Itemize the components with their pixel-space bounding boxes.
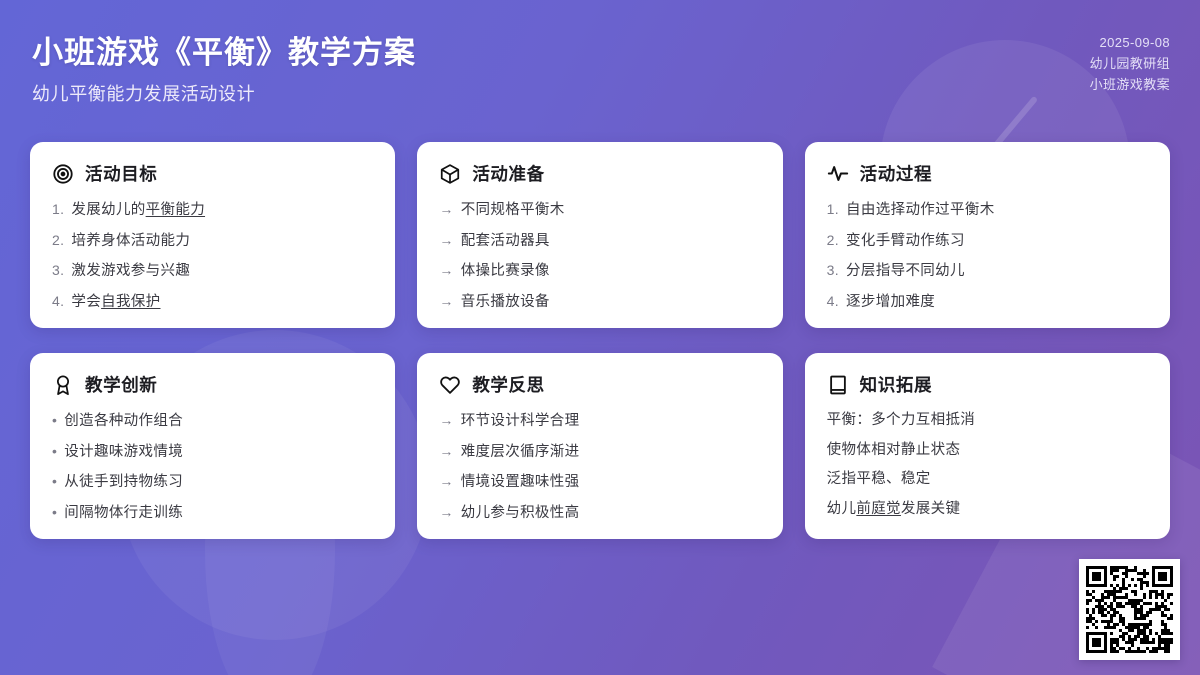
card-list: 1.自由选择动作过平衡木2.变化手臂动作练习3.分层指导不同幼儿4.逐步增加难度 bbox=[827, 199, 1148, 312]
list-item: •设计趣味游戏情境 bbox=[52, 441, 373, 462]
list-marker: 3. bbox=[52, 260, 64, 280]
list-item-text: 培养身体活动能力 bbox=[71, 231, 190, 251]
card-4: 教学创新•创造各种动作组合•设计趣味游戏情境•从徒手到持物练习•间隔物体行走训练 bbox=[30, 353, 395, 539]
card-3: 活动过程1.自由选择动作过平衡木2.变化手臂动作练习3.分层指导不同幼儿4.逐步… bbox=[805, 142, 1170, 328]
list-item: 幼儿前庭觉发展关键 bbox=[827, 499, 1148, 519]
book-icon bbox=[827, 374, 849, 396]
list-item: →环节设计科学合理 bbox=[439, 410, 760, 431]
list-item: •创造各种动作组合 bbox=[52, 410, 373, 431]
list-item-text-pre: 培养身体活动能力 bbox=[71, 233, 190, 249]
list-marker: 4. bbox=[827, 291, 839, 311]
list-marker: → bbox=[439, 291, 453, 311]
card-list: •创造各种动作组合•设计趣味游戏情境•从徒手到持物练习•间隔物体行走训练 bbox=[52, 410, 373, 523]
list-item: •间隔物体行走训练 bbox=[52, 502, 373, 523]
list-item-text-pre: 变化手臂动作练习 bbox=[846, 233, 965, 249]
card-title: 知识拓展 bbox=[860, 372, 932, 397]
list-item-text-pre: 自由选择动作过平衡木 bbox=[846, 202, 995, 218]
package-icon bbox=[439, 163, 461, 185]
list-marker: → bbox=[439, 471, 453, 491]
list-item: 泛指平稳、稳定 bbox=[827, 469, 1148, 489]
list-item-text-pre: 体操比赛录像 bbox=[461, 263, 550, 279]
list-item-text-pre: 逐步增加难度 bbox=[846, 294, 935, 310]
card-header: 知识拓展 bbox=[827, 372, 1148, 397]
list-marker: → bbox=[439, 260, 453, 280]
list-item-text: 环节设计科学合理 bbox=[461, 411, 580, 431]
list-item-text: 自由选择动作过平衡木 bbox=[846, 200, 995, 220]
list-item: 4.学会自我保护 bbox=[52, 291, 373, 312]
list-item-text: 激发游戏参与兴趣 bbox=[71, 261, 190, 281]
list-item-text-pre: 幼儿 bbox=[827, 501, 857, 517]
list-item-text: 音乐播放设备 bbox=[461, 292, 550, 312]
list-item-text-pre: 间隔物体行走训练 bbox=[64, 505, 183, 521]
list-item-text-pre: 发展幼儿的 bbox=[71, 202, 145, 218]
list-item-text-pre: 分层指导不同幼儿 bbox=[846, 263, 965, 279]
card-header: 教学创新 bbox=[52, 372, 373, 397]
card-title: 活动准备 bbox=[472, 161, 544, 186]
list-item-text: 平衡：多个力互相抵消 bbox=[827, 410, 976, 430]
list-item: 1.自由选择动作过平衡木 bbox=[827, 199, 1148, 220]
list-item-text-pre: 不同规格平衡木 bbox=[461, 202, 565, 218]
list-item-text-post: 发展关键 bbox=[901, 501, 960, 517]
list-item-text-pre: 创造各种动作组合 bbox=[64, 413, 183, 429]
list-item: →情境设置趣味性强 bbox=[439, 471, 760, 492]
card-list: →不同规格平衡木→配套活动器具→体操比赛录像→音乐播放设备 bbox=[439, 199, 760, 312]
list-item-text-emphasis: 平衡能力 bbox=[146, 202, 205, 218]
heart-icon bbox=[439, 374, 461, 396]
list-item: →难度层次循序渐进 bbox=[439, 441, 760, 462]
list-item: 2.变化手臂动作练习 bbox=[827, 230, 1148, 251]
list-item-text: 体操比赛录像 bbox=[461, 261, 550, 281]
list-item-text-emphasis: 前庭觉 bbox=[856, 501, 901, 517]
header-meta: 2025-09-08 幼儿园教研组 小班游戏教案 bbox=[1090, 32, 1170, 95]
award-icon bbox=[52, 374, 74, 396]
list-item-text: 间隔物体行走训练 bbox=[64, 503, 183, 523]
list-item: 平衡：多个力互相抵消 bbox=[827, 410, 1148, 430]
card-title: 教学反思 bbox=[472, 372, 544, 397]
list-marker: → bbox=[439, 230, 453, 250]
list-item-text-pre: 激发游戏参与兴趣 bbox=[71, 263, 190, 279]
list-item: 3.激发游戏参与兴趣 bbox=[52, 260, 373, 281]
card-list: →环节设计科学合理→难度层次循序渐进→情境设置趣味性强→幼儿参与积极性高 bbox=[439, 410, 760, 523]
list-item-text-pre: 环节设计科学合理 bbox=[461, 413, 580, 429]
card-list: 1.发展幼儿的平衡能力2.培养身体活动能力3.激发游戏参与兴趣4.学会自我保护 bbox=[52, 199, 373, 312]
list-item-text: 情境设置趣味性强 bbox=[461, 472, 580, 492]
list-item-text-pre: 音乐播放设备 bbox=[461, 294, 550, 310]
list-marker: • bbox=[52, 410, 57, 430]
list-marker: → bbox=[439, 199, 453, 219]
list-item-text: 从徒手到持物练习 bbox=[64, 472, 183, 492]
list-item-text-pre: 难度层次循序渐进 bbox=[461, 444, 580, 460]
card-header: 活动准备 bbox=[439, 161, 760, 186]
list-item-text-pre: 使物体相对静止状态 bbox=[827, 442, 961, 458]
list-item-text-pre: 情境设置趣味性强 bbox=[461, 474, 580, 490]
meta-category: 小班游戏教案 bbox=[1090, 74, 1170, 95]
list-marker: → bbox=[439, 410, 453, 430]
list-item: →配套活动器具 bbox=[439, 230, 760, 251]
card-1: 活动目标1.发展幼儿的平衡能力2.培养身体活动能力3.激发游戏参与兴趣4.学会自… bbox=[30, 142, 395, 328]
list-item-text-pre: 从徒手到持物练习 bbox=[64, 474, 183, 490]
page-header: 小班游戏《平衡》教学方案 幼儿平衡能力发展活动设计 2025-09-08 幼儿园… bbox=[0, 0, 1200, 125]
list-item-text-pre: 学会 bbox=[71, 294, 101, 310]
list-item: →音乐播放设备 bbox=[439, 291, 760, 312]
list-item-text: 学会自我保护 bbox=[71, 292, 160, 312]
list-item-text-pre: 设计趣味游戏情境 bbox=[64, 444, 183, 460]
list-item-text: 分层指导不同幼儿 bbox=[846, 261, 965, 281]
list-item: 2.培养身体活动能力 bbox=[52, 230, 373, 251]
list-item-text: 发展幼儿的平衡能力 bbox=[71, 200, 205, 220]
list-marker: → bbox=[439, 502, 453, 522]
list-item-text: 泛指平稳、稳定 bbox=[827, 469, 931, 489]
card-6: 知识拓展平衡：多个力互相抵消使物体相对静止状态泛指平稳、稳定幼儿前庭觉发展关键 bbox=[805, 353, 1170, 539]
meta-org: 幼儿园教研组 bbox=[1090, 53, 1170, 74]
card-header: 教学反思 bbox=[439, 372, 760, 397]
list-item-text: 设计趣味游戏情境 bbox=[64, 442, 183, 462]
list-item: →幼儿参与积极性高 bbox=[439, 502, 760, 523]
card-5: 教学反思→环节设计科学合理→难度层次循序渐进→情境设置趣味性强→幼儿参与积极性高 bbox=[417, 353, 782, 539]
card-title: 教学创新 bbox=[85, 372, 157, 397]
list-item-text-pre: 幼儿参与积极性高 bbox=[461, 505, 580, 521]
card-title: 活动过程 bbox=[860, 161, 932, 186]
list-item-text-emphasis: 自我保护 bbox=[101, 294, 160, 310]
card-2: 活动准备→不同规格平衡木→配套活动器具→体操比赛录像→音乐播放设备 bbox=[417, 142, 782, 328]
list-item-text: 难度层次循序渐进 bbox=[461, 442, 580, 462]
list-item-text-pre: 泛指平稳、稳定 bbox=[827, 471, 931, 487]
meta-date: 2025-09-08 bbox=[1090, 32, 1170, 53]
list-marker: • bbox=[52, 441, 57, 461]
list-marker: 1. bbox=[52, 199, 64, 219]
list-item: 使物体相对静止状态 bbox=[827, 440, 1148, 460]
list-marker: → bbox=[439, 441, 453, 461]
list-marker: 2. bbox=[827, 230, 839, 250]
qr-code-image bbox=[1086, 566, 1173, 653]
qr-code[interactable] bbox=[1079, 559, 1180, 660]
page-subtitle: 幼儿平衡能力发展活动设计 bbox=[32, 80, 255, 106]
list-item: →体操比赛录像 bbox=[439, 260, 760, 281]
card-title: 活动目标 bbox=[85, 161, 157, 186]
activity-pulse-icon bbox=[827, 163, 849, 185]
list-item-text: 不同规格平衡木 bbox=[461, 200, 565, 220]
target-icon bbox=[52, 163, 74, 185]
list-item: •从徒手到持物练习 bbox=[52, 471, 373, 492]
list-marker: 1. bbox=[827, 199, 839, 219]
page-title: 小班游戏《平衡》教学方案 bbox=[32, 27, 416, 72]
list-item-text: 使物体相对静止状态 bbox=[827, 440, 961, 460]
card-list: 平衡：多个力互相抵消使物体相对静止状态泛指平稳、稳定幼儿前庭觉发展关键 bbox=[827, 410, 1148, 519]
list-item: 4.逐步增加难度 bbox=[827, 291, 1148, 312]
list-marker: 3. bbox=[827, 260, 839, 280]
list-item: →不同规格平衡木 bbox=[439, 199, 760, 220]
list-item-text: 变化手臂动作练习 bbox=[846, 231, 965, 251]
list-marker: 2. bbox=[52, 230, 64, 250]
list-marker: 4. bbox=[52, 291, 64, 311]
list-item: 3.分层指导不同幼儿 bbox=[827, 260, 1148, 281]
list-marker: • bbox=[52, 471, 57, 491]
list-item-text: 逐步增加难度 bbox=[846, 292, 935, 312]
list-item-text: 创造各种动作组合 bbox=[64, 411, 183, 431]
card-grid: 活动目标1.发展幼儿的平衡能力2.培养身体活动能力3.激发游戏参与兴趣4.学会自… bbox=[30, 142, 1170, 539]
list-item-text: 幼儿参与积极性高 bbox=[461, 503, 580, 523]
list-item-text-pre: 平衡：多个力互相抵消 bbox=[827, 412, 976, 428]
list-item-text: 配套活动器具 bbox=[461, 231, 550, 251]
card-header: 活动过程 bbox=[827, 161, 1148, 186]
card-header: 活动目标 bbox=[52, 161, 373, 186]
list-item-text-pre: 配套活动器具 bbox=[461, 233, 550, 249]
list-marker: • bbox=[52, 502, 57, 522]
list-item: 1.发展幼儿的平衡能力 bbox=[52, 199, 373, 220]
list-item-text: 幼儿前庭觉发展关键 bbox=[827, 499, 961, 519]
